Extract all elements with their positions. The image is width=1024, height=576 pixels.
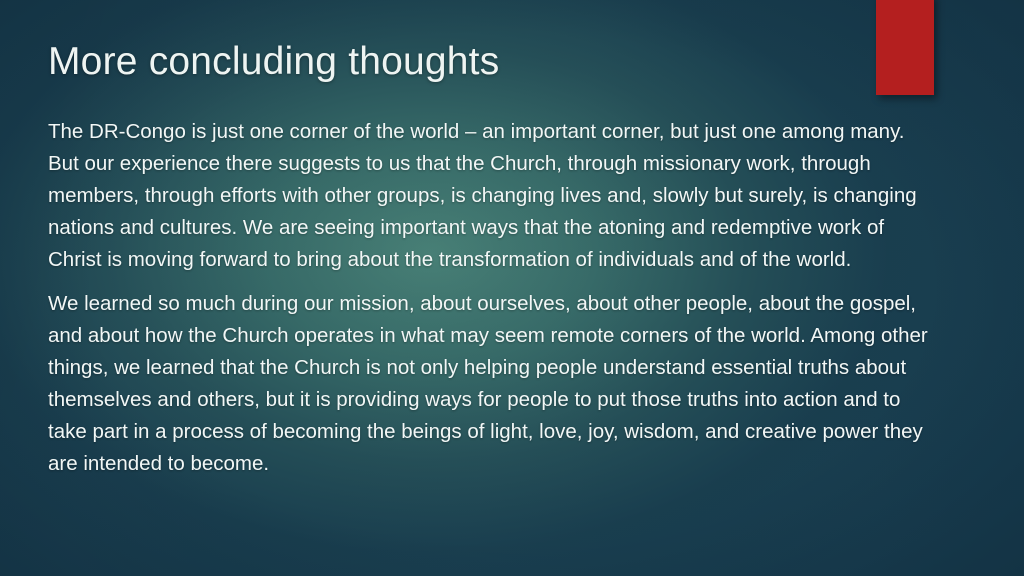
body-paragraph-2: We learned so much during our mission, a… <box>48 288 932 480</box>
presentation-slide: More concluding thoughts The DR-Congo is… <box>0 0 1024 576</box>
slide-title: More concluding thoughts <box>48 40 848 85</box>
slide-content: More concluding thoughts The DR-Congo is… <box>0 0 1024 576</box>
slide-body: The DR-Congo is just one corner of the w… <box>48 116 932 480</box>
body-paragraph-1: The DR-Congo is just one corner of the w… <box>48 116 932 276</box>
